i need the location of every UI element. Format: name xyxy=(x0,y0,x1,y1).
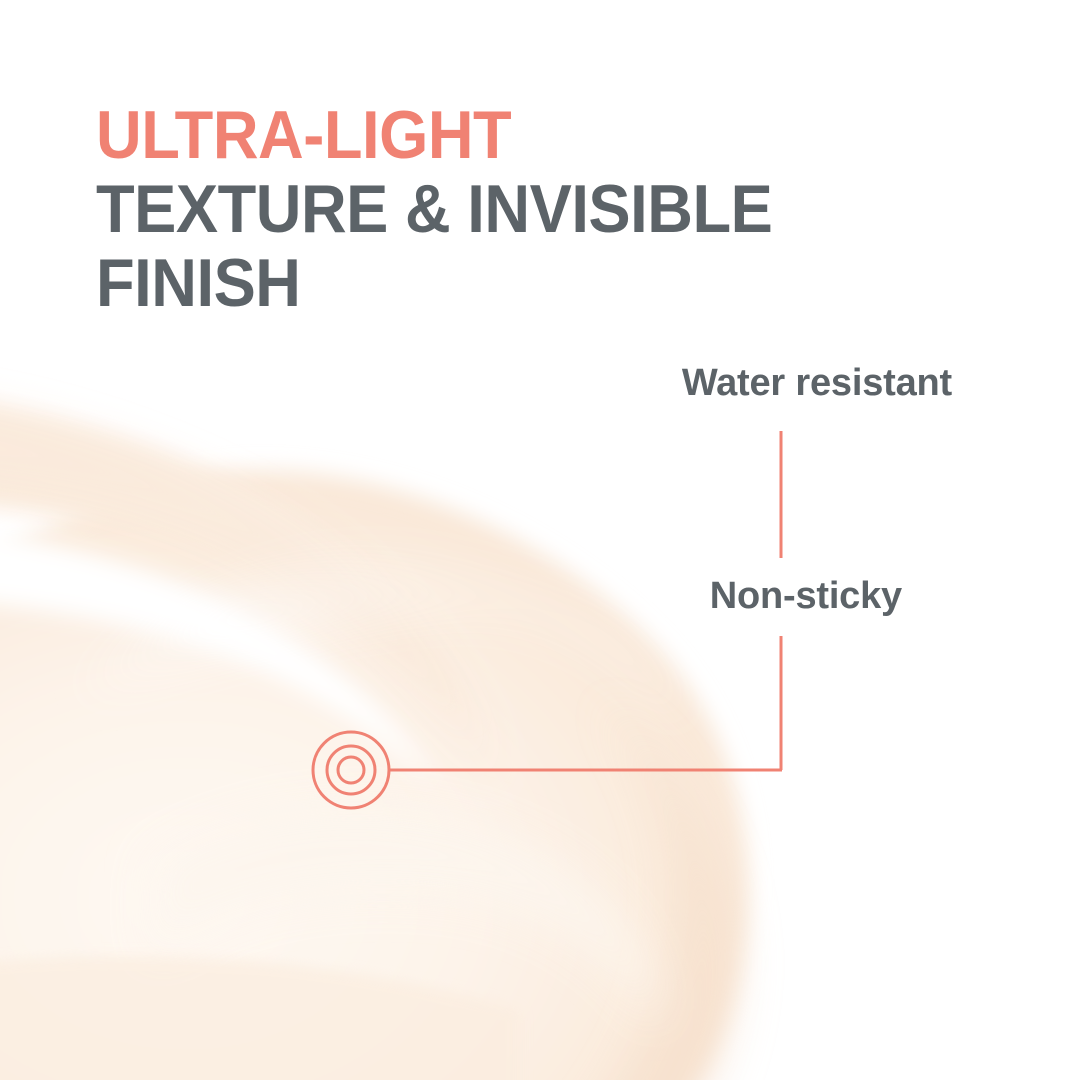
infographic-canvas: ULTRA-LIGHT TEXTURE & INVISIBLE FINISH W… xyxy=(0,0,1080,1080)
callout-graphics xyxy=(0,0,1080,1080)
concentric-target-icon xyxy=(313,732,389,808)
